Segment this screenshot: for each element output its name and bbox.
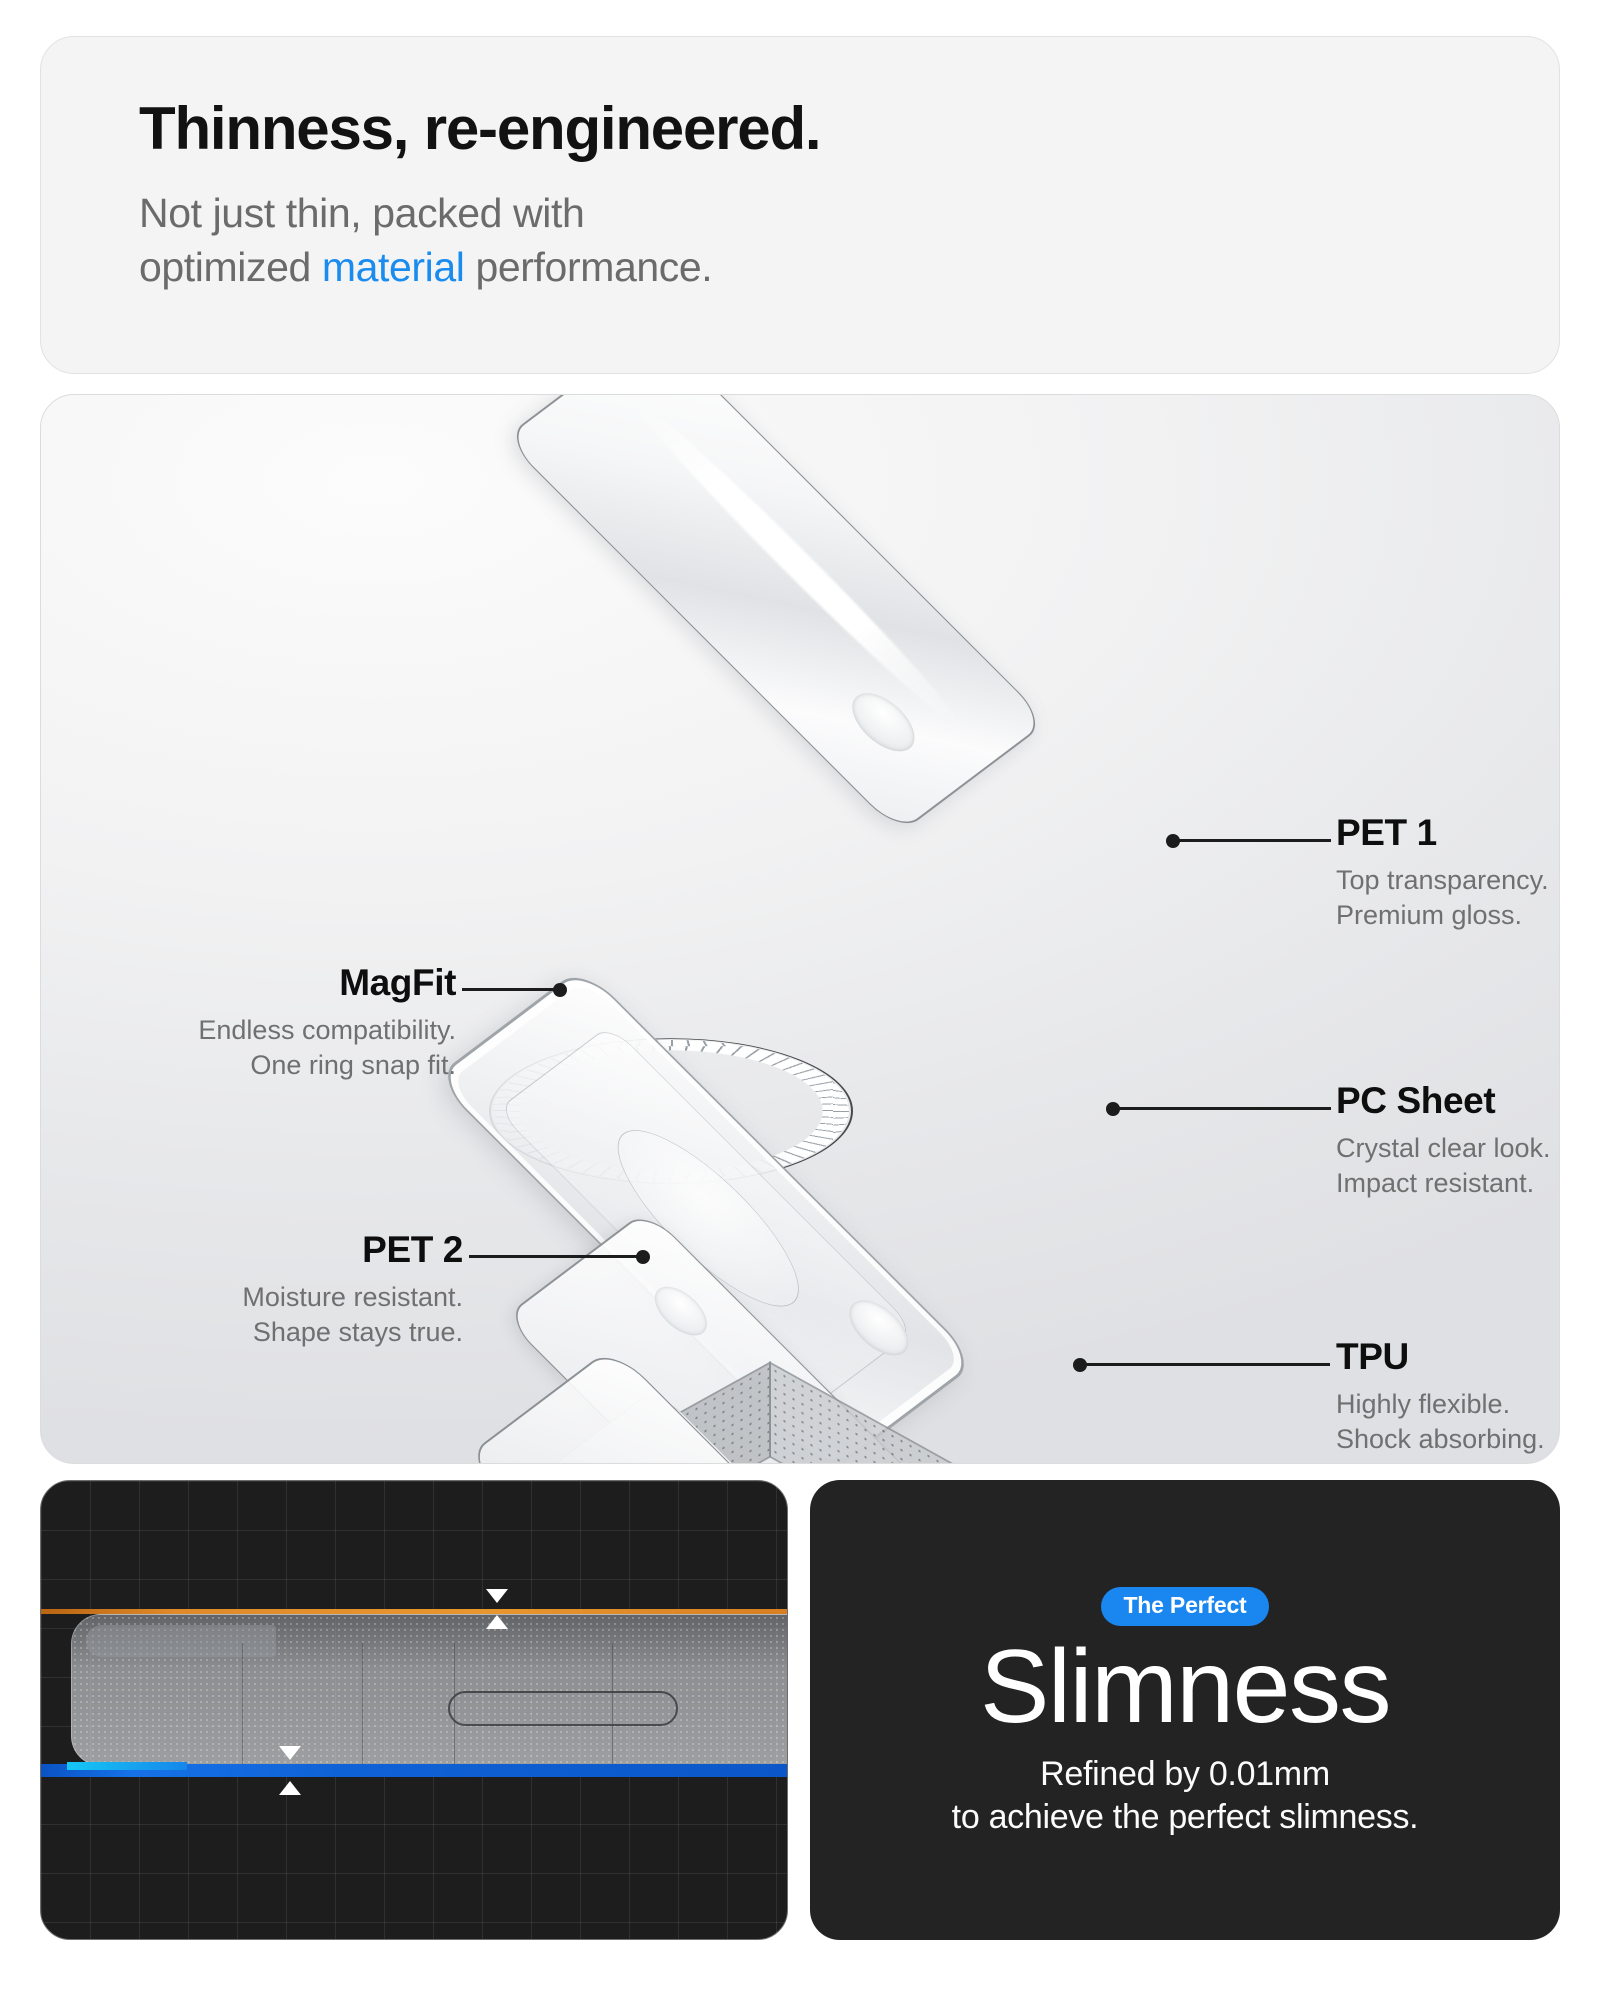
leader-line-tpu xyxy=(1080,1363,1330,1366)
case-seam-2 xyxy=(362,1643,363,1767)
pet1-gloss-highlight xyxy=(625,394,969,733)
subtitle-line-2-pre: optimized xyxy=(139,244,322,290)
product-feature-page: Thinness, re-engineered. Not just thin, … xyxy=(0,0,1600,2000)
case-side-slot xyxy=(448,1691,678,1726)
callout-pet1-desc-line1: Top transparency. xyxy=(1336,865,1549,895)
callout-magfit-desc-line2: One ring snap fit. xyxy=(250,1050,456,1080)
case-seam-1 xyxy=(242,1643,243,1767)
callout-tpu-title: TPU xyxy=(1336,1337,1545,1377)
callout-magfit: MagFit Endless compatibility. One ring s… xyxy=(96,963,456,1082)
leader-line-pet2 xyxy=(469,1255,643,1258)
callout-pet1: PET 1 Top transparency. Premium gloss. xyxy=(1336,813,1549,932)
callout-pet2: PET 2 Moisture resistant. Shape stays tr… xyxy=(103,1230,463,1349)
slimness-sub-line1: Refined by 0.01mm xyxy=(1040,1755,1330,1793)
leader-line-magfit xyxy=(462,988,560,991)
slimness-subtitle: Refined by 0.01mm to achieve the perfect… xyxy=(952,1753,1419,1839)
status-badge: The Perfect xyxy=(1101,1587,1268,1626)
slimness-panel: The Perfect Slimness Refined by 0.01mm t… xyxy=(810,1480,1560,1940)
callout-pet2-desc-line2: Shape stays true. xyxy=(253,1317,463,1347)
measure-marker-bottom-up-icon xyxy=(279,1781,301,1795)
subtitle-line-1: Not just thin, packed with xyxy=(139,190,584,236)
leader-line-pcsheet xyxy=(1113,1107,1331,1110)
callout-tpu-desc-line1: Highly flexible. xyxy=(1336,1389,1510,1419)
layer-pet1-sheet xyxy=(503,394,1048,834)
measure-marker-top-up-icon xyxy=(486,1615,508,1629)
subtitle-line-2-post: performance. xyxy=(465,244,713,290)
bottom-guide-line-cyan-tip xyxy=(67,1762,187,1770)
leader-line-pet1 xyxy=(1173,839,1331,842)
header-card: Thinness, re-engineered. Not just thin, … xyxy=(40,36,1560,374)
callout-pcsheet-desc: Crystal clear look. Impact resistant. xyxy=(1336,1131,1551,1200)
callout-tpu-desc-line2: Shock absorbing. xyxy=(1336,1424,1545,1454)
callout-tpu: TPU Highly flexible. Shock absorbing. xyxy=(1336,1337,1545,1456)
header-text-block: Thinness, re-engineered. Not just thin, … xyxy=(41,37,1559,294)
case-seam-3 xyxy=(454,1643,455,1767)
callout-pcsheet-desc-line1: Crystal clear look. xyxy=(1336,1133,1551,1163)
subtitle-accent-word: material xyxy=(322,244,465,290)
callout-pcsheet-desc-line2: Impact resistant. xyxy=(1336,1168,1534,1198)
callout-pet2-desc: Moisture resistant. Shape stays true. xyxy=(103,1280,463,1349)
callout-pcsheet-title: PC Sheet xyxy=(1336,1081,1551,1121)
callout-pet2-title: PET 2 xyxy=(103,1230,463,1270)
callout-pet1-title: PET 1 xyxy=(1336,813,1549,853)
exploded-diagram-card: PET 1 Top transparency. Premium gloss. M… xyxy=(40,394,1560,1464)
case-seam-4 xyxy=(612,1643,613,1767)
slimness-sub-line2: to achieve the perfect slimness. xyxy=(952,1798,1419,1836)
callout-tpu-desc: Highly flexible. Shock absorbing. xyxy=(1336,1387,1545,1456)
callout-magfit-title: MagFit xyxy=(96,963,456,1003)
pet2-dimple xyxy=(645,1278,717,1343)
case-button-notch xyxy=(86,1625,276,1657)
callout-magfit-desc: Endless compatibility. One ring snap fit… xyxy=(96,1013,456,1082)
page-subtitle: Not just thin, packed with optimized mat… xyxy=(139,186,1559,294)
callout-pet2-desc-line1: Moisture resistant. xyxy=(242,1282,463,1312)
cross-section-panel xyxy=(40,1480,788,1940)
callout-pet1-desc: Top transparency. Premium gloss. xyxy=(1336,863,1549,932)
callout-pet1-desc-line2: Premium gloss. xyxy=(1336,900,1522,930)
case-cross-section xyxy=(71,1614,788,1766)
callout-pcsheet: PC Sheet Crystal clear look. Impact resi… xyxy=(1336,1081,1551,1200)
exploded-layer-stage: PET 1 Top transparency. Premium gloss. M… xyxy=(41,395,1559,1463)
bottom-row: The Perfect Slimness Refined by 0.01mm t… xyxy=(40,1480,1560,1940)
page-title: Thinness, re-engineered. xyxy=(139,97,1559,160)
slimness-title: Slimness xyxy=(980,1628,1390,1747)
pet1-dimple xyxy=(841,683,927,761)
measure-marker-bottom-down-icon xyxy=(279,1746,301,1760)
measure-marker-top-down-icon xyxy=(486,1589,508,1603)
callout-magfit-desc-line1: Endless compatibility. xyxy=(198,1015,456,1045)
